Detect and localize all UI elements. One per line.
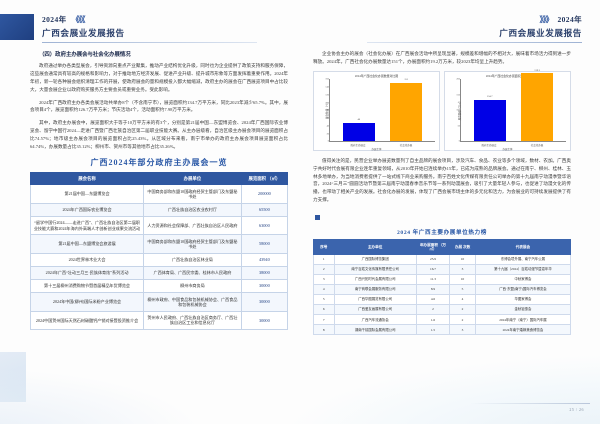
cell-area: 65500 [241,203,287,216]
table-top-organizers: 序号 主办单位 年办展面积 （万㎡） 办展 次数 代表展会 1广西国际博览集团2… [313,239,571,335]
header-left-divider [42,42,257,43]
cell-no: 7 [314,315,335,325]
chart-bars: 134.7219.2 [461,79,566,141]
document-page: 2024年 《《《 广西会展业发展报告 》》》 2024年 广西会展业发展报告 … [0,0,600,424]
cell-count: 10 [450,254,476,264]
charts-row: 2024年广西社会化办展数量对比图 展会数量（个） 16014012010080… [313,71,571,151]
cell-expo-name: 2024中国贺州国际天然石材碳酸钙产销对接暨投资推介会 [31,311,144,329]
chart-bars: 48151 [330,79,435,141]
bar-0: 134.7 [474,100,506,142]
x-tick-label: 社会化办展 [390,143,423,147]
x-tick-label: 社会化办展 [521,143,554,147]
column-header-name: 展会名称 [31,172,144,185]
cell-count: 2 [450,315,476,325]
chevron-left-icon: 《《《 [72,14,85,25]
cell-expo-name: 第21届中国—东盟博览会旅游展 [31,235,144,253]
page-header-right: 》》》 2024年 广西会展业发展报告 [367,14,582,43]
cell-organizer: 南宁百姓文化传媒有限责任公司 [334,264,416,274]
table-row: 第21届中国—东盟博览会旅游展中国商务部和东盟10国政府经贸主管部门及东盟秘书处… [31,235,288,253]
cell-area: 38000 [241,266,287,279]
cell-organizer: 中国商务部和东盟10国政府经贸主管部门及东盟秘书处 [144,235,242,253]
paragraph: 其中，政府主办展会中，展览面积大于等于10万平方米的有3个，分别是第21届中国—… [30,119,288,151]
paragraph: 企业协会主办的展会（社会化办展）在广西展会活动中所呈现显著，规模差和增幅的不相对… [313,50,571,66]
y-tick-label: 160 [325,78,329,81]
cell-no: 5 [314,295,335,305]
bar-1: 151 [390,83,422,142]
table-row: 5广西华图展览有限公司4.64华图家博会 [314,295,571,305]
y-tick-label: 150 [456,93,460,96]
cell-no: 4 [314,285,335,295]
footer-divider [470,403,590,404]
chevron-right-icon: 》》》 [540,14,553,25]
bar-0: 48 [343,123,375,142]
table-row: 2024年中国(柳州)国际米粉产业博览会柳州市政府、中国食品和包装机械协会、广西… [31,293,288,311]
decorative-swoosh-right [280,354,600,424]
paragraph: 值得关注的是，民营企业举办展览数量列了自主品牌的展会项目，涉及汽车、食品、农业等… [313,157,571,204]
decorative-swoosh-left [0,366,210,424]
paragraph: 政府通过举办各类型展会，引导资源向重点产业聚集，推动产业结构优化升级，同时也为企… [30,62,288,94]
cell-area: 58000 [241,235,287,253]
cell-expo-name: 2024年广西“壮动三月三·民族体育炫”系列活动 [31,266,144,279]
chart-expo-area: 2024年广西社会化办展面积对比图 展览面积（万㎡） 200150100500 … [444,71,571,151]
y-tick-label: 100 [325,101,329,104]
page-number: 25 / 26 [569,407,584,412]
page-header-left: 2024年 《《《 广西会展业发展报告 [42,14,257,43]
cell-rep-expo: 广西·东盟(南宁)国际汽车博览会 [475,285,570,295]
header-left-title: 广西会展业发展报告 [42,27,257,39]
chart-plot-area: 展览面积（万㎡） 200150100500 134.7219.2 [460,79,566,142]
cell-area: 25.9 [416,254,449,264]
cell-area: 43940 [241,253,287,266]
cell-expo-name: 2024年中国(柳州)国际米粉产业博览会 [31,293,144,311]
header-right-year: 2024年 [558,14,583,25]
column-header-no: 序号 [314,240,335,255]
cell-area: 1.5 [416,325,449,335]
table-row: “留学中国行2024——走进广西”、广西壮族自治区第二届职业技能大赛和2024年… [31,216,288,234]
column-header-org: 办展单位 [144,172,242,185]
chart-x-axis-label: 办展主体 [316,147,437,151]
section-marker-icon [315,215,320,220]
cell-count: 10 [450,275,476,285]
chart-expo-count: 2024年广西社会化办展数量对比图 展会数量（个） 16014012010080… [313,71,440,151]
cell-organizer: 广西壮族自治区林业局 [144,253,242,266]
bar-value-label: 151 [390,78,422,81]
table-title-top-organizers: 2024 年广西主要办展单位热力榜 [313,228,571,236]
cell-organizer: 广西壮族自治区农业农村厅 [144,203,242,216]
cell-area: 63000 [241,216,287,234]
cell-area: 1.6 [416,315,449,325]
bar-value-label: 134.7 [474,95,506,98]
cell-expo-name: 2024世界林木业大会 [31,253,144,266]
cell-organizer: 柳州市商务局 [144,280,242,293]
cell-no: 1 [314,254,335,264]
table-row: 7广西汽车流通协会1.622024年南宁（南宁）国际汽车展 [314,315,571,325]
bar-1: 219.2 [521,73,553,141]
column-header-rep: 代表展会 [475,240,570,255]
cell-area: 30000 [241,293,287,311]
bar-value-label: 219.2 [521,69,553,72]
cell-area: 30000 [241,311,287,329]
y-tick-label: 200 [456,78,460,81]
bar-value-label: 48 [343,118,375,121]
y-tick-label: 140 [325,86,329,89]
cell-organizer: 中国商务部和东盟10国政府经贸主管部门及东盟秘书处 [144,185,242,203]
table-row: 8湖南千禧国际会展有限公司1.532024年南宁婚嫁美食博览会 [314,325,571,335]
chart-x-axis-label: 办展主体 [447,147,568,151]
y-tick-label: 40 [327,124,329,127]
table-row: 第21届中国—东盟博览会中国商务部和东盟10国政府经贸主管部门及东盟秘书处200… [31,185,288,203]
x-tick-label: 政府主办展会 [342,143,375,147]
cell-organizer: 人力资源和社会保障部、广西壮族自治区人民政府 [144,216,242,234]
table-row: 2024中国贺州国际天然石材碳酸钙产销对接暨投资推介会贺州市人民政府、广西壮族自… [31,311,288,329]
cell-organizer: 广西兴拓时代会展有限公司 [334,275,416,285]
cell-rep-expo: 金秋钜惠会 [475,305,570,315]
cell-organizer: 湖南千禧国际会展有限公司 [334,325,416,335]
cell-rep-expo: 华图家博会 [475,295,570,305]
cell-organizer: 广西爱友画展有限公司 [334,305,416,315]
right-column: 企业协会主办的展会（社会化办展）在广西展会活动中所呈现显著，规模差和增幅的不相对… [313,50,571,335]
cell-expo-name: 2024年广西国际农业博览会 [31,203,144,216]
left-column: （四）政府主办展会与社会化办展情况 政府通过举办各类型展会，引导资源向重点产业聚… [30,50,288,330]
table-row: 4南宁商联会展服务有限公司8.95广西·东盟(南宁)国际汽车博览会 [314,285,571,295]
cell-organizer: 广西国际博览集团 [334,254,416,264]
table-row: 2024年广西“壮动三月三·民族体育炫”系列活动广西体育局、广西民宗委、桂林市人… [31,266,288,279]
cell-organizer: 广西汽车流通协会 [334,315,416,325]
table-row: 3广西兴拓时代会展有限公司11.310中秋家博会 [314,275,571,285]
column-header-area: 展览面积 （㎡） [241,172,287,185]
cell-area: 30000 [241,280,287,293]
cell-count: 3 [450,264,476,274]
cell-no: 8 [314,325,335,335]
cell-no: 3 [314,275,335,285]
table-row: 2南宁百姓文化传媒有限责任公司16.73第十九届（2024）百姓动漫节暨嘉年华 [314,264,571,274]
cell-no: 6 [314,305,335,315]
y-tick-label: 0 [328,140,329,143]
header-right-title: 广西会展业发展报告 [367,27,582,39]
table-row: 6广西爱友画展有限公司22金秋钜惠会 [314,305,571,315]
column-header-org: 主办单位 [334,240,416,255]
x-tick-label: 政府主办展会 [473,143,506,147]
cell-area: 11.3 [416,275,449,285]
y-tick-label: 80 [327,109,329,112]
cell-area: 16.7 [416,264,449,274]
column-header-count: 办展 次数 [450,240,476,255]
section-title: （四）政府主办展会与社会化办展情况 [30,50,288,58]
paragraph: 2024年广西政府主办各类会展活动共举办8个（不含南宁市），展览面积约134.7… [30,99,288,115]
cell-count: 3 [450,325,476,335]
cell-rep-expo: 第十九届（2024）百姓动漫节暨嘉年华 [475,264,570,274]
cell-organizer: 柳州市政府、中国食品和包装机械协会、广西食品和包装机械协会 [144,293,242,311]
chart-y-ticks: 200150100500 [452,79,461,141]
table-header-row: 展会名称 办展单位 展览面积 （㎡） [31,172,288,185]
cell-organizer: 广西华图展览有限公司 [334,295,416,305]
decorative-corner-block [0,14,34,40]
table-government-expos: 展会名称 办展单位 展览面积 （㎡） 第21届中国—东盟博览会中国商务部和东盟1… [30,172,288,330]
cell-area: 200000 [241,185,287,203]
chart-plot-area: 展会数量（个） 160140120100806040200 48151 [329,79,435,142]
table-row: 2024年广西国际农业博览会广西壮族自治区农业农村厅65500 [31,203,288,216]
cell-rep-expo: 东博会境外展、南宁汽车公展 [475,254,570,264]
cell-count: 5 [450,285,476,295]
cell-no: 2 [314,264,335,274]
cell-organizer: 南宁商联会展服务有限公司 [334,285,416,295]
y-tick-label: 120 [325,93,329,96]
cell-area: 4.6 [416,295,449,305]
table-title-government-expos: 广西2024年部分政府主办展会一览 [30,157,288,168]
y-tick-label: 50 [458,124,460,127]
cell-count: 2 [450,305,476,315]
cell-area: 8.9 [416,285,449,295]
cell-rep-expo: 2024年南宁婚嫁美食博览会 [475,325,570,335]
cell-area: 2 [416,305,449,315]
chart-y-ticks: 160140120100806040200 [321,79,330,141]
column-header-area: 年办展面积 （万㎡） [416,240,449,255]
header-left-year: 2024年 [42,14,67,25]
cell-count: 4 [450,295,476,305]
table-header-row: 序号 主办单位 年办展面积 （万㎡） 办展 次数 代表展会 [314,240,571,255]
y-tick-label: 60 [327,117,329,120]
cell-expo-name: 第21届中国—东盟博览会 [31,185,144,203]
y-tick-label: 100 [456,109,460,112]
cell-rep-expo: 2024年南宁（南宁）国际汽车展 [475,315,570,325]
table-row: 2024世界林木业大会广西壮族自治区林业局43940 [31,253,288,266]
y-tick-label: 0 [459,140,460,143]
header-right-divider [367,42,582,43]
cell-rep-expo: 中秋家博会 [475,275,570,285]
cell-expo-name: 第十三届柳州消费购物节暨首届精品年货博览会 [31,280,144,293]
cell-organizer: 贺州市人民政府、广西壮族自治区商务厅、广西壮族自治区工业和信息化厅 [144,311,242,329]
cell-organizer: 广西体育局、广西民宗委、桂林市人民政府 [144,266,242,279]
table-row: 第十三届柳州消费购物节暨首届精品年货博览会柳州市商务局30000 [31,280,288,293]
cell-expo-name: “留学中国行2024——走进广西”、广西壮族自治区第二届职业技能大赛和2024年… [31,216,144,234]
table-row: 1广西国际博览集团25.910东博会境外展、南宁汽车公展 [314,254,571,264]
y-tick-label: 20 [327,132,329,135]
